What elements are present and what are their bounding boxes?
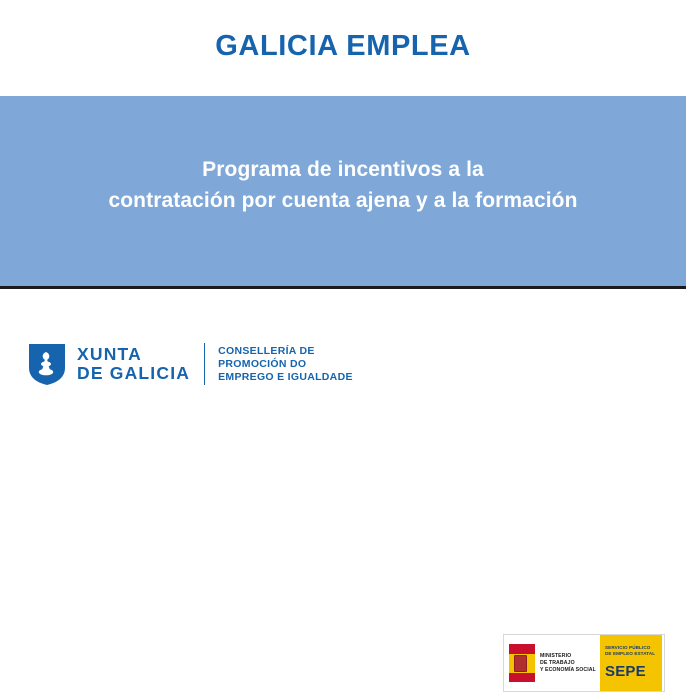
program-subtitle-line2: contratación por cuenta ajena y a la for…: [0, 185, 686, 216]
program-subtitle-line1: Programa de incentivos a la: [0, 154, 686, 185]
ministerio-line3: Y ECONOMÍA SOCIAL: [540, 667, 596, 674]
xunta-de-galicia-logo: XUNTA DE GALICIA CONSELLERÍA DE PROMOCIÓ…: [26, 341, 353, 387]
ministerio-line2: DE TRABAJO: [540, 660, 596, 667]
gobierno-sepe-logo: MINISTERIO DE TRABAJO Y ECONOMÍA SOCIAL …: [503, 634, 665, 692]
conselleria-line2: PROMOCIÓN DO: [218, 358, 353, 371]
ministerio-block: MINISTERIO DE TRABAJO Y ECONOMÍA SOCIAL: [504, 635, 600, 691]
poster-page: GALICIA EMPLEA Programa de incentivos a …: [0, 0, 686, 410]
xunta-wordmark-line2: DE GALICIA: [77, 364, 190, 383]
sepe-subtitle-line2: DE EMPLEO ESTATAL: [605, 651, 655, 657]
conselleria-line3: EMPREGO E IGUALDADE: [218, 371, 353, 384]
header-region: GALICIA EMPLEA: [0, 0, 686, 96]
coat-of-arms-icon: [514, 655, 527, 672]
conselleria-line1: CONSELLERÍA DE: [218, 345, 353, 358]
spain-flag-icon: [509, 644, 535, 682]
xunta-wordmark-line1: XUNTA: [77, 345, 190, 364]
xunta-shield-icon: [26, 341, 68, 387]
sepe-acronym: SEPE: [605, 663, 646, 680]
conselleria-text: CONSELLERÍA DE PROMOCIÓN DO EMPREGO E IG…: [218, 345, 353, 384]
sepe-subtitle: SERVICIO PÚBLICO DE EMPLEO ESTATAL: [605, 645, 655, 657]
footer-region: XUNTA DE GALICIA CONSELLERÍA DE PROMOCIÓ…: [0, 289, 686, 410]
ministerio-text: MINISTERIO DE TRABAJO Y ECONOMÍA SOCIAL: [540, 653, 596, 674]
sepe-block: SERVICIO PÚBLICO DE EMPLEO ESTATAL SEPE: [600, 635, 662, 691]
xunta-wordmark: XUNTA DE GALICIA: [77, 345, 190, 383]
page-title: GALICIA EMPLEA: [0, 30, 686, 63]
logo-divider: [204, 343, 205, 385]
program-subtitle: Programa de incentivos a la contratación…: [0, 154, 686, 216]
ministerio-line1: MINISTERIO: [540, 653, 596, 660]
blue-banner: Programa de incentivos a la contratación…: [0, 96, 686, 286]
